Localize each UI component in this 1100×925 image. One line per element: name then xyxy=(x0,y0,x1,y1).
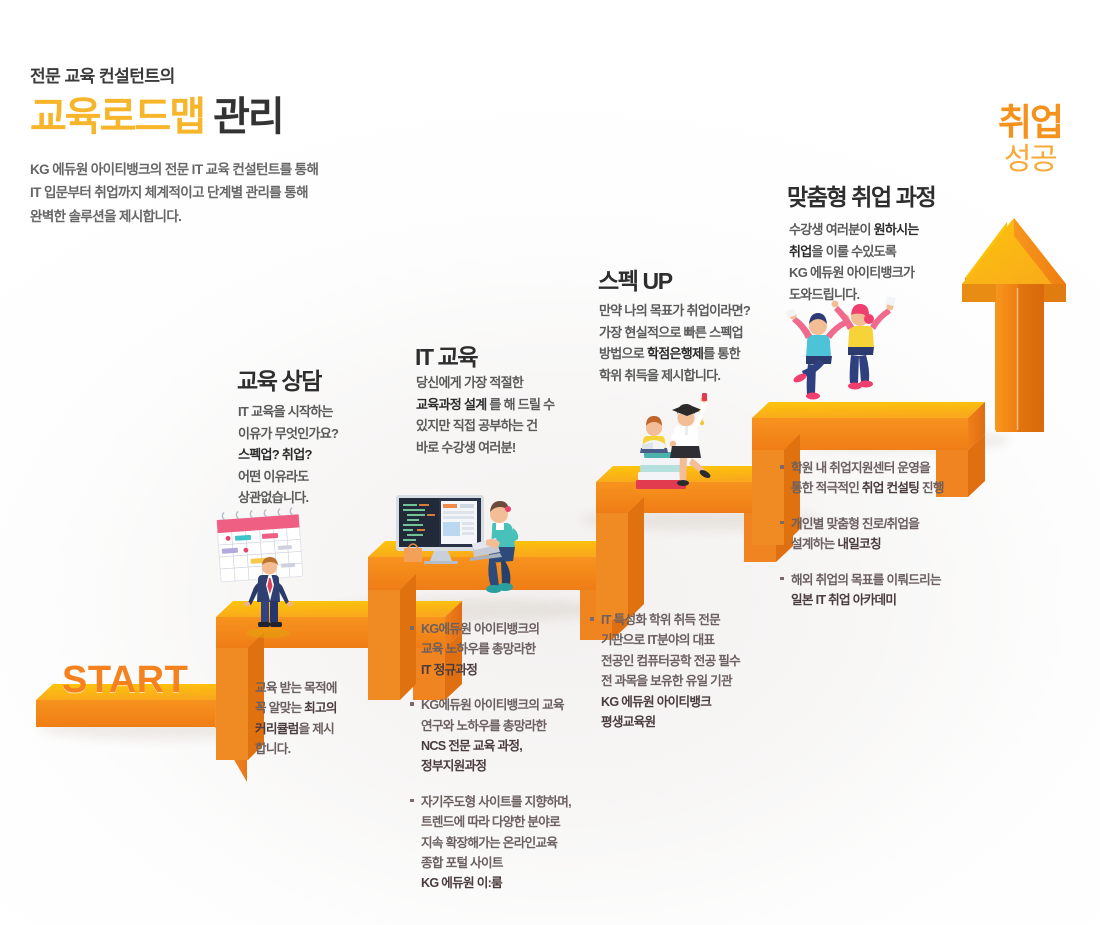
page-title-highlight: 교육로드맵 xyxy=(30,95,204,139)
step-4-lead: 수강생 여러분이 원하시는취업을 이룰 수있도록KG 에듀원 아이티뱅크가도와드… xyxy=(789,219,994,305)
step-1-note: 교육 받는 목적에꼭 알맞는 최고의커리큘럼을 제시합니다. xyxy=(255,678,405,760)
step-4-bullets: 학원 내 취업지원센터 운영을통한 적극적인 취업 컨설팅 진행개인별 맞춤형 … xyxy=(780,458,990,610)
bullet-item: KG에듀원 아이티뱅크의교육 노하우를 총망라한IT 정규과정 xyxy=(410,619,605,680)
header-description: KG 에듀원 아이티뱅크의 전문 IT 교육 컨설턴트를 통해IT 입문부터 취… xyxy=(30,158,450,228)
step-3-title: 스펙 UP xyxy=(598,262,672,296)
bullet-item: IT 특성화 학위 취득 전문기관으로 IT분야의 대표전공인 컴퓨터공학 전공… xyxy=(590,610,790,732)
bullet-item: 자기주도형 사이트를 지향하며,트렌드에 따라 다양한 분야로지속 확장해가는 … xyxy=(410,792,605,894)
infographic-canvas: 전문 교육 컨설턴트의 교육로드맵 관리 KG 에듀원 아이티뱅크의 전문 IT… xyxy=(0,0,1100,925)
success-line-1: 취업 xyxy=(975,104,1085,141)
step-2-bullets: KG에듀원 아이티뱅크의교육 노하우를 총망라한IT 정규과정KG에듀원 아이티… xyxy=(410,619,605,894)
start-label: START xyxy=(62,659,188,702)
businessman-with-calendar-illustration xyxy=(188,505,338,645)
bullet-item: 개인별 맞춤형 진로/취업을설계하는 내일코칭 xyxy=(780,514,990,555)
step-3-lead: 만약 나의 목표가 취업이라면?가장 현실적으로 빠른 스펙업방법으로 학점은행… xyxy=(599,300,804,386)
bullet-item: 해외 취업의 목표를 이뤄드리는일본 IT 취업 아카데미 xyxy=(780,570,990,611)
step-1-lead: IT 교육을 시작하는이유가 무엇인가요?스펙업? 취업?어떤 이유라도상관없습… xyxy=(238,401,428,509)
success-line-2: 성공 xyxy=(975,143,1085,178)
success-label: 취업 성공 xyxy=(975,104,1085,178)
page-title-rest: 관리 xyxy=(204,95,283,139)
step-4-title: 맞춤형 취업 과정 xyxy=(787,178,935,212)
bullet-item: KG에듀원 아이티뱅크의 교육연구와 노하우를 총망라한NCS 전문 교육 과정… xyxy=(410,695,605,777)
bullet-item: 학원 내 취업지원센터 운영을통한 적극적인 취업 컨설팅 진행 xyxy=(780,458,990,499)
step-1-title: 교육 상담 xyxy=(237,362,321,396)
step-2-lead: 당신에게 가장 적절한교육과정 설계 를 해 드릴 수있지만 직접 공부하는 건… xyxy=(416,372,616,458)
page-title: 교육로드맵 관리 xyxy=(30,96,450,139)
header-kicker: 전문 교육 컨설턴트의 xyxy=(30,62,450,87)
step-2-title: IT 교육 xyxy=(415,338,477,372)
header-block: 전문 교육 컨설턴트의 교육로드맵 관리 KG 에듀원 아이티뱅크의 전문 IT… xyxy=(30,62,450,228)
step-3-bullets: IT 특성화 학위 취득 전문기관으로 IT분야의 대표전공인 컴퓨터공학 전공… xyxy=(590,610,790,732)
